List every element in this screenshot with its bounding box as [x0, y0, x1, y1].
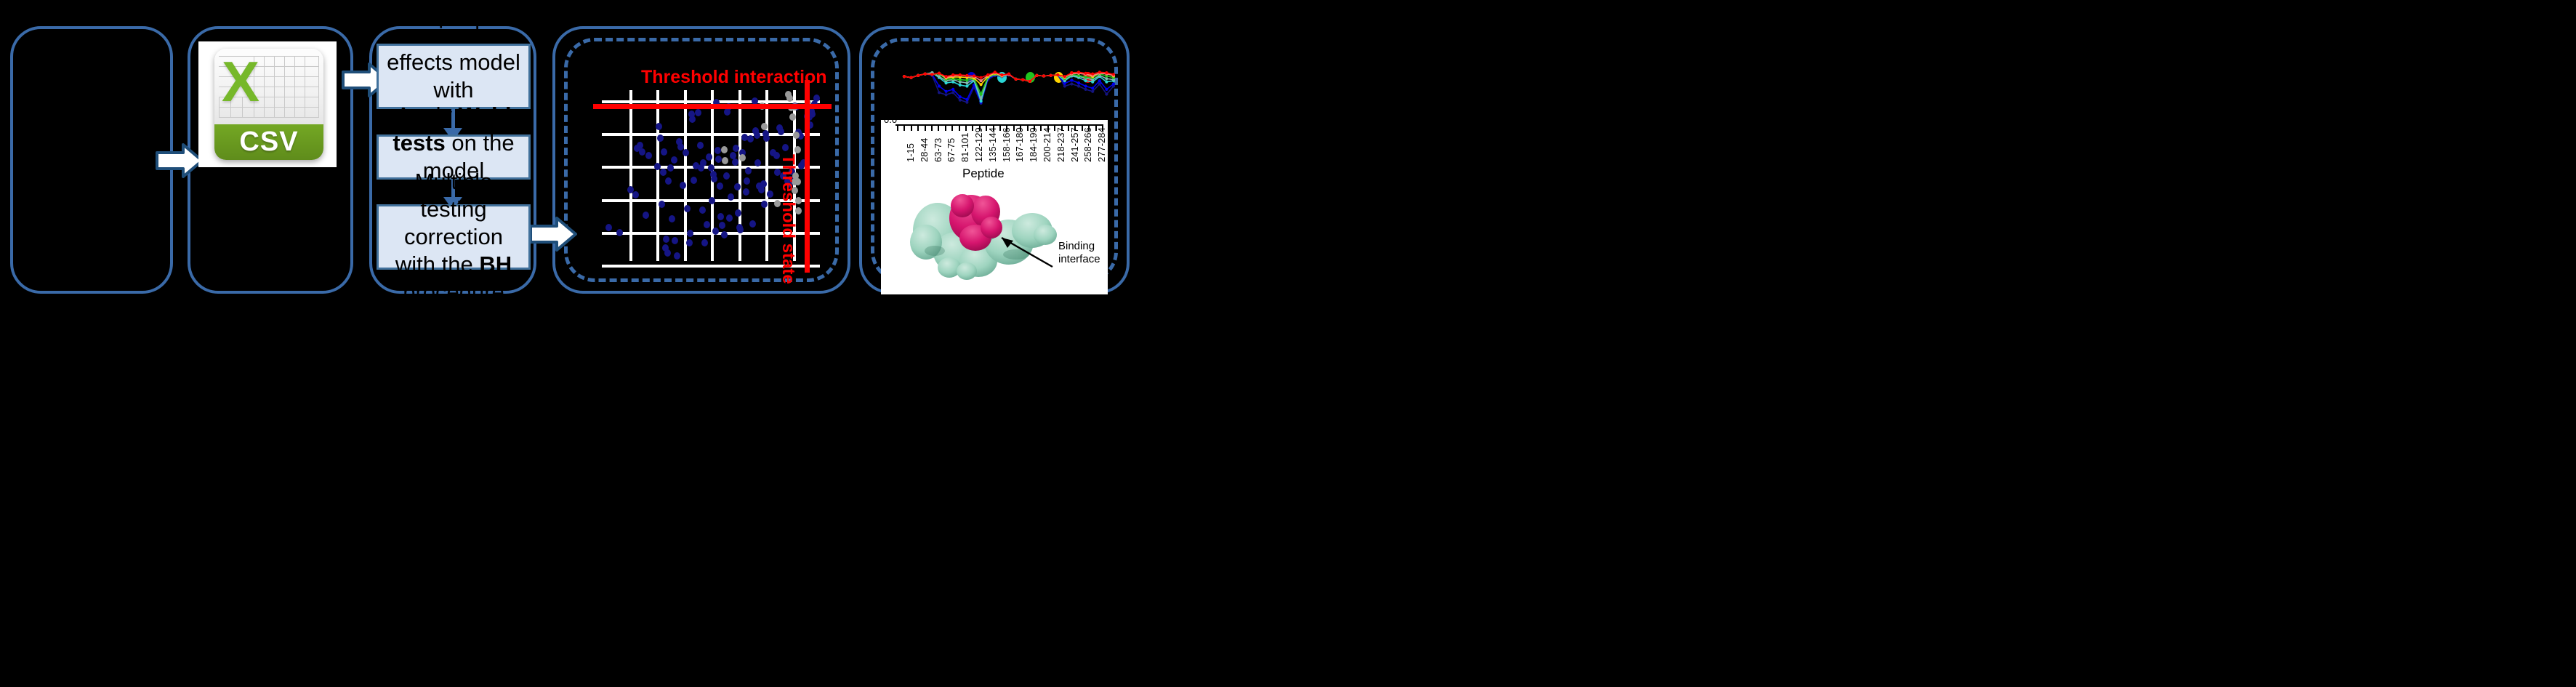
scatter-point	[789, 113, 796, 121]
peptide-data-point	[994, 71, 997, 73]
scatter-point	[754, 132, 760, 139]
peptide-data-point	[951, 88, 954, 91]
x-axis-tick	[931, 126, 933, 131]
peptide-tick-label: 167-180	[1014, 127, 1025, 162]
scatter-point	[691, 177, 697, 184]
binding-label-line1: Binding	[1058, 240, 1100, 253]
peptide-data-point	[1007, 73, 1010, 76]
scatter-point	[654, 163, 661, 170]
gridline-vertical	[629, 90, 632, 261]
protein-structure-image	[900, 185, 1067, 291]
peptide-data-point	[1070, 71, 1073, 74]
gridline-vertical	[656, 90, 659, 261]
scatter-point	[659, 201, 665, 208]
scatter-point	[763, 134, 770, 142]
peptide-data-point	[1098, 79, 1101, 82]
scatter-point	[735, 209, 741, 217]
scatter-point	[663, 236, 669, 243]
scatter-point	[723, 172, 730, 180]
scatter-point	[712, 228, 719, 235]
peptide-data-point	[951, 91, 954, 94]
scatter-point	[701, 239, 708, 246]
scatter-point	[739, 154, 746, 161]
peptide-data-point	[1056, 73, 1059, 76]
peptide-tick-label: 67-75	[946, 138, 957, 162]
arrow-stats-to-scatter	[529, 216, 577, 252]
peptide-data-point	[1112, 73, 1115, 76]
peptide-data-point	[1000, 73, 1003, 76]
peptide-data-point	[965, 101, 968, 104]
peptide-data-point	[980, 76, 983, 79]
peptide-data-point	[1077, 84, 1080, 87]
threshold-interaction-line	[593, 104, 832, 109]
scatter-point	[760, 180, 767, 188]
peptide-figure-panel: 0.0 1-1528-4463-7367-7581-101122-129135-…	[881, 120, 1108, 294]
peptide-data-point	[910, 76, 913, 79]
peptide-tick-label: 1-15	[905, 143, 916, 162]
peptide-data-point	[938, 75, 941, 78]
gridline-vertical	[765, 90, 768, 261]
arrow-input-to-csv	[156, 142, 204, 179]
scatter-point	[706, 153, 712, 161]
scatter-point	[677, 143, 684, 150]
binding-label-line2: interface	[1058, 253, 1100, 266]
x-axis-tick	[959, 126, 960, 131]
peptide-data-point	[903, 75, 906, 78]
x-axis-tick	[911, 126, 912, 131]
peptide-data-point	[959, 84, 962, 87]
peptide-data-point	[930, 73, 933, 76]
scatter-point	[721, 146, 728, 153]
peptide-tick-label: 81-101	[959, 133, 970, 162]
peptide-data-point	[965, 98, 968, 101]
scatter-point	[793, 132, 800, 139]
peptide-data-point	[1077, 71, 1080, 73]
scatter-point	[656, 123, 662, 130]
scatter-point	[686, 239, 693, 246]
threshold-scatter: Threshold interaction Threshold state	[574, 45, 830, 278]
scatter-point	[749, 220, 756, 228]
peptide-data-point	[1015, 78, 1018, 81]
peptide-data-point	[980, 79, 983, 82]
peptide-data-point	[1098, 71, 1101, 73]
scatter-point	[639, 148, 645, 156]
peptide-line-series	[904, 74, 1114, 103]
peptide-tick-label: 277-284	[1096, 127, 1107, 162]
scatter-point	[669, 215, 675, 222]
scatter-point	[782, 144, 789, 151]
peptide-data-point	[965, 79, 968, 81]
scatter-point	[745, 167, 752, 174]
scatter-point	[728, 193, 734, 201]
scatter-point	[704, 221, 710, 228]
peptide-data-point	[1070, 79, 1073, 81]
peptide-data-point	[986, 73, 989, 76]
x-axis-tick	[951, 126, 953, 131]
scatter-point	[680, 182, 686, 189]
scatter-point	[697, 142, 704, 149]
csv-x-letter: X	[222, 53, 259, 110]
scatter-point	[660, 169, 667, 176]
peptide-data-point	[1063, 75, 1066, 78]
peptide-data-point	[959, 73, 962, 76]
scatter-point	[717, 213, 724, 220]
csv-file-icon: X CSV	[198, 41, 337, 167]
peptide-data-point	[1063, 84, 1066, 87]
scatter-point	[632, 191, 639, 198]
peptide-data-point	[1091, 73, 1094, 76]
peptide-tick-label: 218-237	[1055, 127, 1066, 162]
peptide-data-point	[973, 74, 975, 77]
scatter-point	[709, 197, 715, 204]
scatter-point	[747, 135, 754, 142]
peptide-data-point	[1021, 79, 1024, 81]
scatter-point	[643, 212, 649, 219]
peptide-data-point	[938, 91, 941, 94]
step-model-box[interactable]: Fit a linear mixed- effects model with R…	[377, 44, 531, 109]
peptide-data-point	[965, 84, 968, 87]
peptide-data-point	[959, 99, 962, 102]
peptide-data-point	[945, 90, 948, 93]
scatter-point	[761, 123, 768, 130]
peptide-data-point	[980, 97, 983, 100]
csv-label: CSV	[214, 124, 323, 160]
scatter-point	[743, 188, 749, 196]
gridline-vertical	[738, 90, 741, 261]
scatter-point	[671, 156, 677, 164]
scatter-point	[645, 152, 652, 159]
csv-spreadsheet-area: X	[214, 49, 323, 124]
peptide-tick-label: 258-266	[1082, 127, 1093, 162]
gridline-vertical	[684, 90, 687, 261]
scatter-point	[726, 214, 733, 222]
scatter-point	[664, 249, 671, 257]
peptide-data-point	[965, 81, 968, 84]
scatter-point	[722, 157, 728, 164]
scatter-point	[684, 205, 691, 212]
peptide-tick-label: 158-166	[1001, 127, 1012, 162]
peptide-tick-label: 135-144	[987, 127, 998, 162]
peptide-data-point	[1042, 74, 1045, 77]
peptide-data-point	[1105, 77, 1108, 80]
scatter-point	[711, 175, 717, 182]
peptide-data-point	[959, 79, 962, 81]
peptide-tick-label: 63-73	[933, 138, 943, 162]
x-axis-tick	[965, 126, 967, 131]
peptide-data-point	[1029, 80, 1031, 83]
scatter-point	[809, 111, 816, 118]
step-bh-box[interactable]: Multiple testing correction with the BH …	[377, 204, 531, 270]
scatter-point	[761, 201, 768, 208]
peptide-data-point	[1105, 81, 1108, 84]
scatter-point	[732, 158, 738, 166]
scatter-point	[674, 252, 680, 260]
threshold-state-line	[805, 80, 810, 273]
peptide-data-point	[1112, 82, 1115, 85]
scatter-point	[665, 177, 672, 185]
peptide-data-point	[1050, 74, 1052, 77]
peptide-data-point	[924, 73, 927, 76]
peptide-data-point	[951, 73, 954, 76]
peptide-data-point	[1105, 92, 1108, 95]
scatter-point	[767, 190, 773, 198]
scatter-point	[721, 231, 728, 238]
peptide-data-point	[1105, 88, 1108, 91]
scatter-point	[672, 237, 678, 244]
scatter-point	[683, 149, 689, 156]
peptide-data-point	[1084, 84, 1087, 87]
peptide-data-point	[959, 95, 962, 98]
x-axis-tick	[903, 126, 905, 131]
scatter-point	[667, 164, 674, 172]
peptide-tick-label: 200-214	[1042, 127, 1052, 162]
peptide-data-point	[1084, 79, 1087, 82]
x-axis-tick	[945, 126, 946, 131]
scatter-point	[813, 95, 820, 102]
scatter-point	[715, 147, 721, 154]
peptide-data-point	[1084, 76, 1087, 79]
peptide-data-point	[945, 93, 948, 96]
x-axis-title: Peptide	[962, 166, 1005, 181]
peptide-data-point	[945, 75, 948, 78]
peptide-data-point	[938, 84, 941, 87]
scatter-point	[695, 109, 701, 116]
x-axis-tick	[925, 126, 926, 131]
gridline-horizontal	[602, 133, 820, 136]
peptide-data-point	[1035, 74, 1038, 77]
x-axis-tick	[917, 126, 919, 131]
peptide-data-point	[1070, 82, 1073, 85]
scatter-point	[794, 146, 801, 153]
peptide-data-point	[1063, 82, 1066, 85]
peptide-data-point	[917, 74, 919, 77]
peptide-line-chart	[901, 64, 1119, 122]
csv-icon-body: X CSV	[214, 49, 323, 160]
peptide-data-point	[1084, 88, 1087, 91]
scatter-point	[734, 183, 741, 190]
peptide-data-point	[980, 92, 983, 95]
peptide-data-point	[1077, 81, 1080, 84]
scatter-point	[689, 116, 696, 123]
peptide-tick-label: 184-199	[1028, 127, 1039, 162]
scatter-point	[778, 128, 784, 135]
peptide-data-point	[1091, 90, 1094, 93]
peptide-tick-label: 28-44	[919, 138, 930, 162]
binding-interface-label: Binding interface	[1058, 240, 1100, 265]
scatter-point	[719, 222, 725, 229]
peptide-data-point	[965, 74, 968, 77]
panel-input	[10, 26, 173, 294]
scatter-title: Threshold interaction	[641, 67, 827, 88]
scatter-point	[605, 224, 612, 231]
scatter-point	[699, 206, 706, 214]
x-axis-tick	[897, 126, 898, 131]
peptide-tick-label: 122-129	[973, 127, 984, 162]
step-bh-text: Multiple testing correction with the BH …	[385, 168, 523, 305]
scatter-point	[661, 148, 667, 156]
scatter-point	[717, 182, 723, 190]
peptide-data-point	[1091, 87, 1094, 89]
peptide-data-point	[938, 72, 941, 75]
peptide-data-point	[1084, 72, 1087, 75]
scatter-point	[744, 177, 750, 185]
x-axis-tick	[938, 126, 939, 131]
peptide-data-point	[1105, 71, 1108, 74]
scatter-point	[687, 230, 693, 237]
scatter-point	[737, 226, 744, 233]
peptide-tick-label: 241-257	[1069, 127, 1080, 162]
peptide-data-point	[980, 83, 983, 86]
scatter-point	[657, 134, 664, 142]
threshold-state-label: Threshold state	[778, 154, 798, 284]
scatter-point	[616, 229, 623, 236]
scatter-point	[715, 156, 722, 163]
